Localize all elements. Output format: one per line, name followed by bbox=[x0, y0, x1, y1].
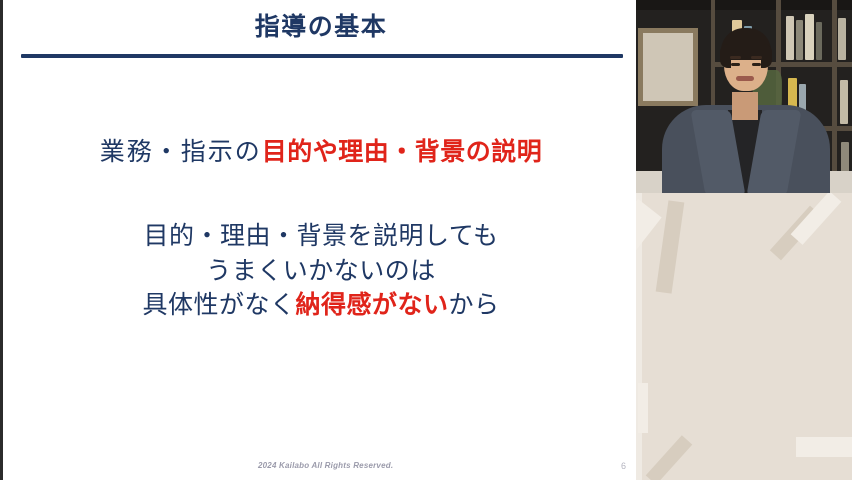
body-statement-block: 目的・理由・背景を説明しても うまくいかないのは 具体性がなく納得感がないから bbox=[3, 219, 636, 323]
copyright-notice: 2024 Kailabo All Rights Reserved. bbox=[258, 461, 393, 470]
body-line-3-highlight: 納得感がない bbox=[295, 291, 448, 319]
presenter-video-tile[interactable] bbox=[636, 0, 852, 193]
stripe-decor-5 bbox=[638, 383, 648, 433]
book-10 bbox=[840, 80, 848, 124]
decorative-panel bbox=[636, 193, 852, 480]
presenter-eye-left bbox=[731, 63, 740, 66]
slide-page-number: 6 bbox=[621, 461, 626, 471]
book-4 bbox=[816, 22, 822, 60]
book-2 bbox=[796, 20, 803, 60]
presenter-mouth bbox=[736, 76, 754, 81]
lead-highlight-text: 目的や理由・背景の説明 bbox=[262, 138, 543, 166]
presentation-slide: 指導の基本 業務・指示の目的や理由・背景の説明 目的・理由・背景を説明しても う… bbox=[0, 0, 636, 480]
slide-title: 指導の基本 bbox=[3, 14, 636, 42]
stripe-decor-7 bbox=[796, 437, 852, 457]
title-divider-rule bbox=[21, 54, 623, 58]
wall-frame-decor bbox=[638, 28, 698, 106]
stripe-decor-6 bbox=[646, 435, 693, 480]
presenter-brow-right bbox=[751, 56, 762, 59]
shelf-post-2 bbox=[832, 0, 837, 193]
book-1 bbox=[786, 16, 794, 60]
screen-root: 指導の基本 業務・指示の目的や理由・背景の説明 目的・理由・背景を説明しても う… bbox=[0, 0, 852, 480]
presenter-neck bbox=[732, 92, 758, 120]
right-sidebar bbox=[636, 0, 852, 480]
book-5 bbox=[838, 18, 846, 60]
shelf-top-bar bbox=[636, 0, 852, 10]
lead-plain-text: 業務・指示の bbox=[100, 138, 262, 166]
body-line-3-prefix: 具体性がなく bbox=[142, 291, 295, 319]
presenter-hair-right bbox=[761, 44, 772, 68]
body-line-3-suffix: から bbox=[449, 291, 500, 319]
body-line-2: うまくいかないのは bbox=[3, 254, 636, 289]
stripe-decor-2 bbox=[656, 200, 685, 293]
presenter-eye-right bbox=[752, 63, 761, 66]
book-3 bbox=[805, 14, 814, 60]
presenter-brow-left bbox=[730, 56, 741, 59]
body-line-1: 目的・理由・背景を説明しても bbox=[3, 219, 636, 254]
lead-statement: 業務・指示の目的や理由・背景の説明 bbox=[3, 136, 636, 170]
body-line-3: 具体性がなく納得感がないから bbox=[3, 288, 636, 323]
